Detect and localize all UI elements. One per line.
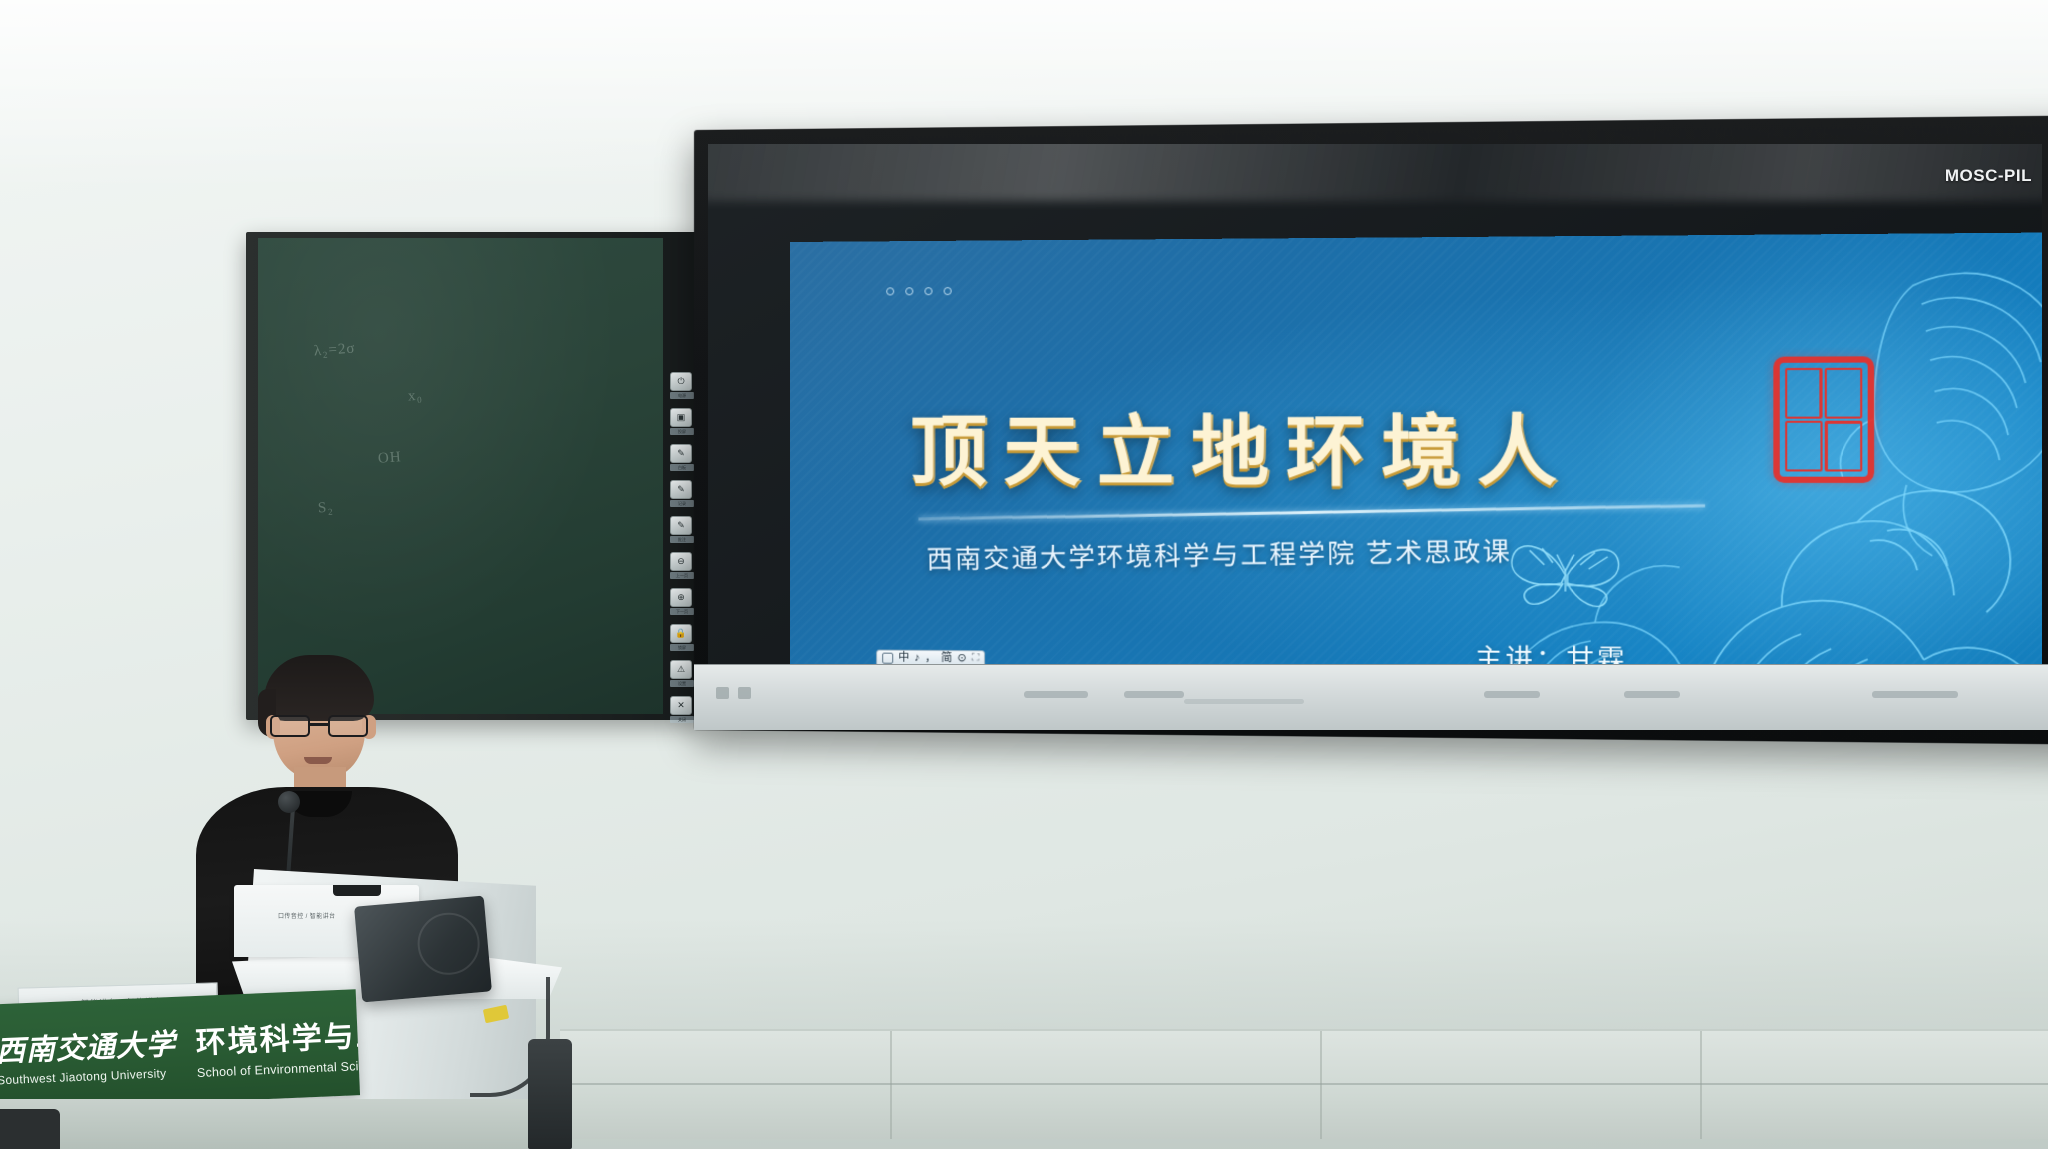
wall-baseboard — [560, 1029, 2048, 1139]
board-control-label: 电源 — [670, 392, 694, 399]
screen-glare — [708, 144, 2042, 201]
display-brand-mark — [1184, 699, 1304, 704]
slide-presenter: 主讲：甘霖 — [1475, 638, 1628, 664]
alert-icon[interactable]: ⚠ — [670, 660, 692, 679]
banner-university-cn: 西南交通大学 — [0, 1020, 177, 1070]
display-speaker-slot — [1872, 691, 1958, 698]
board-control-next[interactable]: ⊕ 下一页 — [670, 588, 694, 615]
slide-dot — [944, 287, 952, 295]
display-speaker-slot — [1024, 691, 1088, 698]
board-control-power[interactable]: ⏻ 电源 — [670, 372, 694, 399]
speaker-glasses — [270, 715, 368, 737]
display-speaker-slot — [1484, 691, 1540, 698]
chalkboard: λ₂=2σ OH S₂ x₀ ⏻ 电源 ▣ 投屏 ✎ 白板 ✎ 记录 ✎ — [246, 232, 701, 720]
music-note-icon[interactable]: ♪ — [914, 653, 920, 664]
pen-icon[interactable]: ✎ — [670, 480, 692, 499]
simplified-chinese-icon[interactable]: 简 — [941, 653, 952, 664]
slide-subtitle: 西南交通大学环境科学与工程学院 艺术思政课 — [926, 531, 1512, 577]
board-control-screen[interactable]: ▣ 投屏 — [670, 408, 694, 435]
baseboard-joint — [1320, 1031, 1322, 1139]
chalk-note: S₂ — [317, 499, 334, 517]
board-control-close[interactable]: ✕ 关闭 — [670, 696, 694, 723]
board-control-label: 记录 — [670, 500, 694, 507]
keyboard-icon[interactable] — [882, 653, 893, 664]
baseboard-joint — [890, 1031, 892, 1139]
slide-dot — [905, 287, 913, 295]
floor-equipment — [528, 1039, 572, 1149]
display-screen[interactable]: MOSC-PIL — [708, 144, 2042, 664]
display-key[interactable] — [716, 687, 729, 699]
microphone-head — [278, 791, 300, 813]
ime-mode-label[interactable]: 中 — [898, 653, 909, 664]
board-control-label: 上一页 — [670, 572, 694, 579]
lectern-panel-label: 口传音控 / 智能讲台 — [278, 911, 335, 920]
chalkboard-surface: λ₂=2σ OH S₂ x₀ — [258, 238, 663, 714]
smart-display[interactable]: MOSC-PIL — [694, 130, 2048, 730]
display-bottom-bezel — [694, 664, 2048, 730]
board-control-prev[interactable]: ⊖ 上一页 — [670, 552, 694, 579]
expand-icon[interactable]: ⛶ — [972, 653, 980, 664]
slide-dot — [924, 287, 932, 295]
glasses-lens — [270, 715, 310, 737]
board-control-pen2[interactable]: ✎ 记录 — [670, 480, 694, 507]
floor-shadow-object — [0, 1109, 60, 1149]
slide-dot — [886, 287, 894, 295]
board-control-label: 下一页 — [670, 608, 694, 615]
baseboard-seam — [560, 1083, 2048, 1085]
power-icon[interactable]: ⏻ — [670, 372, 692, 391]
close-icon[interactable]: ✕ — [670, 696, 692, 715]
display-speaker-slot — [1624, 691, 1680, 698]
seal-glyph — [1825, 368, 1863, 418]
board-control-pen1[interactable]: ✎ 白板 — [670, 444, 694, 471]
settings-icon[interactable]: ⊙ — [957, 653, 966, 664]
speaker-hair — [264, 655, 374, 721]
pen-icon[interactable]: ✎ — [670, 444, 692, 463]
board-control-strip[interactable]: ⏻ 电源 ▣ 投屏 ✎ 白板 ✎ 记录 ✎ 批注 ⊖ 上一页 — [667, 372, 697, 723]
punctuation-icon[interactable]: ， — [925, 653, 936, 664]
banner-divider — [185, 1016, 188, 1082]
display-watermark: MOSC-PIL — [1945, 166, 2032, 186]
board-control-pen3[interactable]: ✎ 批注 — [670, 516, 694, 543]
presentation-slide[interactable]: 顶天立地环境人 西南交通大学环境科学与工程学院 艺术思政课 主讲：甘霖 中 ♪ … — [790, 232, 2042, 664]
board-control-label: 白板 — [670, 464, 694, 471]
lectern-cable-notch — [333, 885, 381, 896]
minus-icon[interactable]: ⊖ — [670, 552, 692, 571]
display-speaker-slot — [1124, 691, 1184, 698]
chinese-seal-stamp — [1773, 356, 1874, 483]
display-key[interactable] — [738, 687, 751, 699]
ime-language-bar[interactable]: 中 ♪ ， 简 ⊙ ⛶ — [876, 650, 985, 664]
banner-school-cn: 环境科学与工程学院 — [195, 1006, 360, 1062]
lock-icon[interactable]: 🔒 — [670, 624, 692, 643]
board-control-label: 批注 — [670, 536, 694, 543]
plus-icon[interactable]: ⊕ — [670, 588, 692, 607]
baseboard-joint — [1700, 1031, 1702, 1139]
chalk-note: λ₂=2σ — [313, 341, 356, 361]
chalk-note: OH — [377, 449, 402, 468]
board-control-label: 设置 — [670, 680, 694, 687]
screen-icon[interactable]: ▣ — [670, 408, 692, 427]
seal-glyph — [1785, 368, 1822, 418]
speaker-mouth — [304, 757, 332, 764]
chalk-note: x₀ — [407, 388, 423, 406]
board-control-label: 投屏 — [670, 428, 694, 435]
board-control-label: 关闭 — [670, 716, 694, 723]
glasses-bridge — [310, 723, 328, 726]
pen-icon[interactable]: ✎ — [670, 516, 692, 535]
board-control-label: 锁屏 — [670, 644, 694, 651]
lecture-hall-scene: λ₂=2σ OH S₂ x₀ ⏻ 电源 ▣ 投屏 ✎ 白板 ✎ 记录 ✎ — [0, 0, 2048, 1149]
slide-dots — [886, 287, 951, 295]
display-key-group[interactable] — [716, 687, 751, 699]
glasses-lens — [328, 715, 368, 737]
board-control-lock[interactable]: 🔒 锁屏 — [670, 624, 694, 651]
seal-glyph — [1785, 420, 1822, 471]
floor-strip — [0, 1099, 560, 1149]
board-control-alert[interactable]: ⚠ 设置 — [670, 660, 694, 687]
slide-title: 顶天立地环境人 — [910, 388, 1728, 502]
department-banner: 西南交通大学 Southwest Jiaotong University 环境科… — [0, 989, 360, 1110]
seal-glyph — [1825, 420, 1863, 471]
